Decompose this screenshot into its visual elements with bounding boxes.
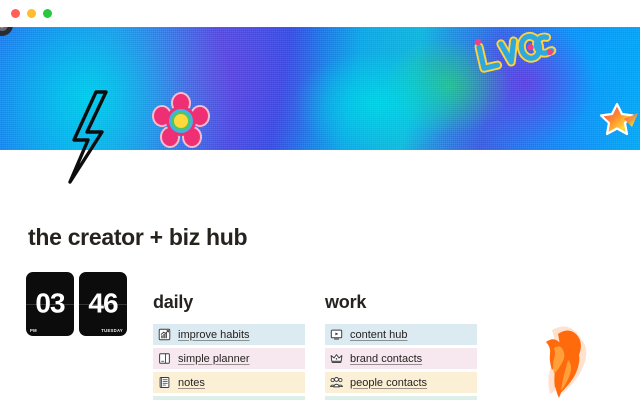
flip-clock-hours: 03: [26, 287, 74, 319]
document-icon: [158, 376, 171, 389]
column-work: work content hub brand contacts: [325, 292, 477, 400]
people-group-icon: [330, 376, 343, 389]
flip-clock-widget: 03 PM 46 TUESDAY: [26, 272, 127, 336]
app-window: the creator + biz hub 03 PM 46 TUESDAY d…: [0, 0, 640, 400]
flip-clock-minutes: 46: [79, 287, 127, 319]
lightning-bolt-sticker: [62, 88, 114, 186]
page-title: the creator + biz hub: [28, 224, 247, 251]
link-columns: daily improve habits simpl: [153, 292, 477, 400]
flower-sticker: [152, 92, 210, 148]
close-button[interactable]: [11, 9, 20, 18]
shooting-star-sticker: [598, 102, 640, 142]
list-item-label: notes: [178, 377, 205, 389]
flip-clock-hours-card: 03 PM: [26, 272, 74, 336]
maximize-button[interactable]: [43, 9, 52, 18]
love-sticker: [470, 27, 560, 85]
window-titlebar: [0, 0, 640, 27]
list-item-brand-contacts[interactable]: brand contacts: [325, 348, 477, 369]
flame-illustration: [516, 318, 628, 400]
list-item-label: people contacts: [350, 377, 427, 389]
list-item-people-contacts[interactable]: people contacts: [325, 372, 477, 393]
list-item-partial[interactable]: [153, 396, 305, 400]
list-item-label: simple planner: [178, 353, 250, 365]
flip-clock-meridiem: PM: [30, 328, 37, 333]
list-item-label: improve habits: [178, 329, 250, 341]
list-item-label: brand contacts: [350, 353, 422, 365]
list-item-partial[interactable]: [325, 396, 477, 400]
open-book-icon: [158, 352, 171, 365]
flip-clock-weekday: TUESDAY: [101, 328, 123, 333]
minimize-button[interactable]: [27, 9, 36, 18]
list-item-improve-habits[interactable]: improve habits: [153, 324, 305, 345]
list-item-simple-planner[interactable]: simple planner: [153, 348, 305, 369]
column-title-work: work: [325, 292, 477, 313]
crown-icon: [330, 352, 343, 365]
corner-sticker: [0, 27, 26, 44]
list-item-label: content hub: [350, 329, 408, 341]
bar-chart-icon: [158, 328, 171, 341]
video-screen-icon: [330, 328, 343, 341]
flip-clock-minutes-card: 46 TUESDAY: [79, 272, 127, 336]
column-title-daily: daily: [153, 292, 305, 313]
list-item-content-hub[interactable]: content hub: [325, 324, 477, 345]
column-daily: daily improve habits simpl: [153, 292, 305, 400]
list-item-notes[interactable]: notes: [153, 372, 305, 393]
